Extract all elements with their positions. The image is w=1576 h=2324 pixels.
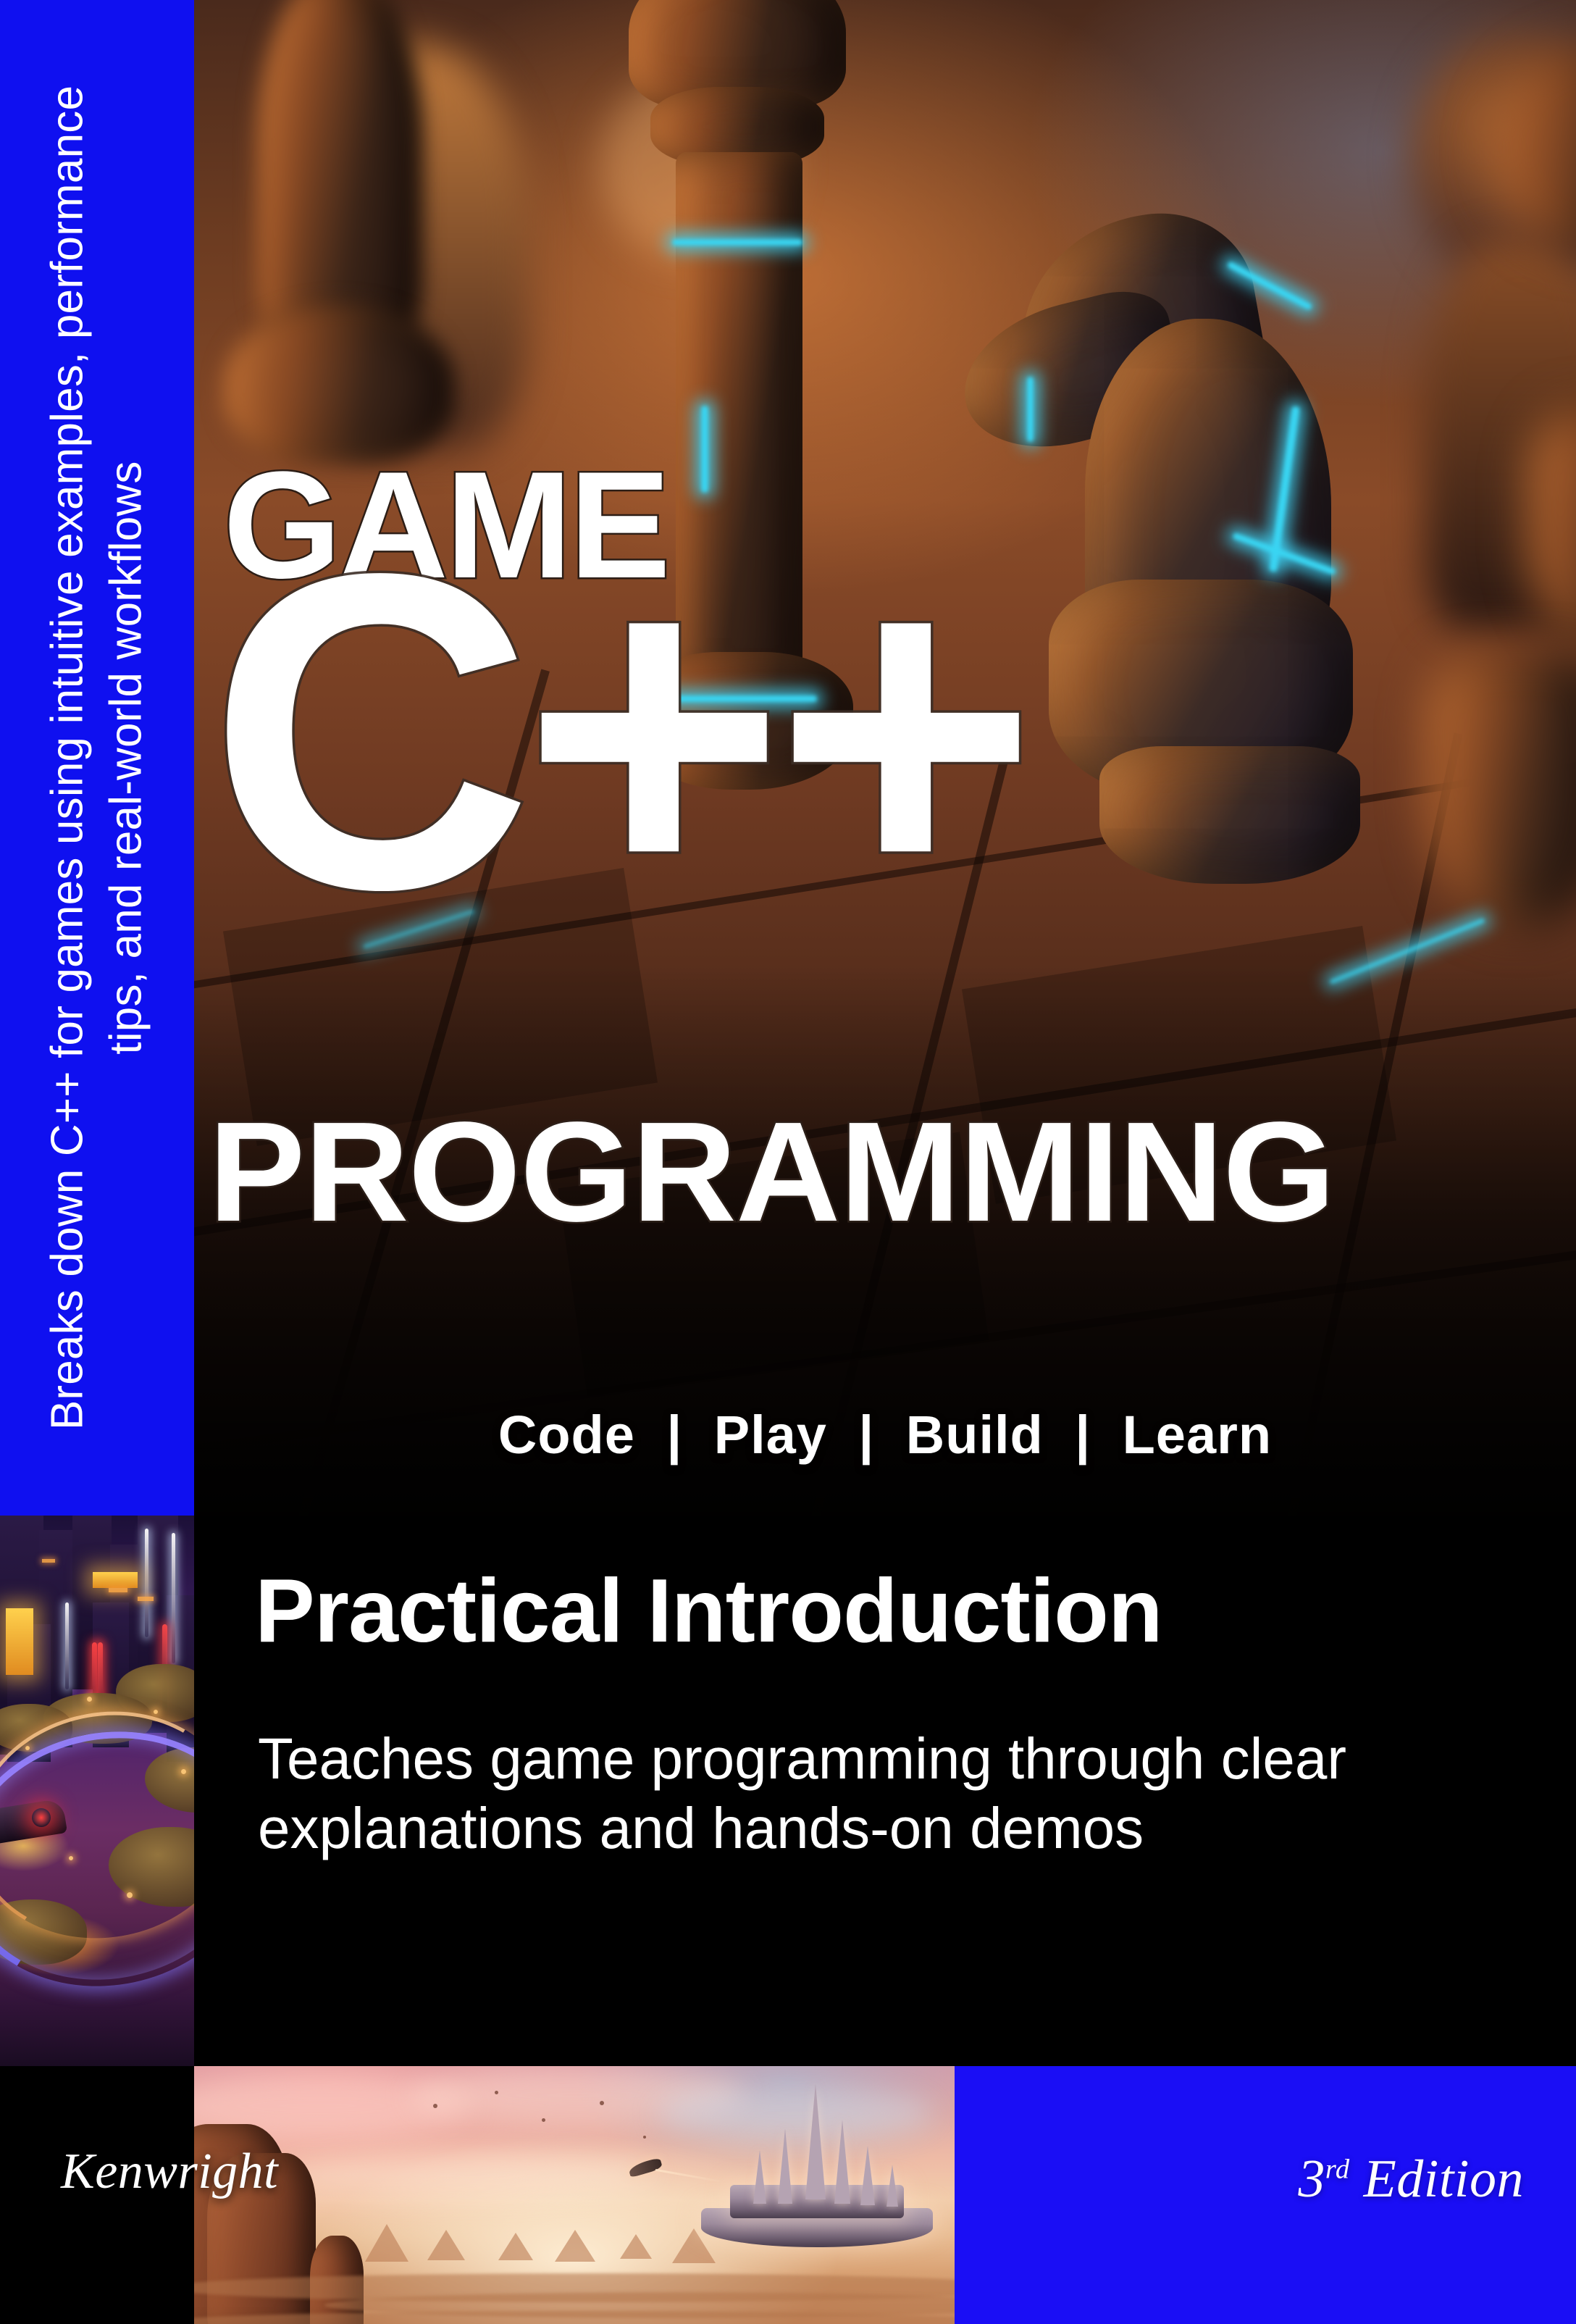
kicker-row: Code | Play | Build | Learn [194,1404,1576,1466]
kicker-learn: Learn [1123,1405,1273,1465]
kicker-sep-2: | [843,1405,891,1465]
kicker-code: Code [498,1405,635,1465]
cyberpunk-city-panel [0,1516,194,2066]
title-line-cpp: C++ [209,507,1027,956]
edition-word: Edition [1364,2149,1524,2209]
edition-label: 3rd Edition [1298,2149,1524,2210]
kicker-sep-1: | [650,1405,698,1465]
kicker-build: Build [906,1405,1044,1465]
kicker-sep-3: | [1059,1405,1107,1465]
book-cover: GAME C++ PROGRAMMING Code | Play | Build… [0,0,1576,2324]
edition-ordinal: rd [1325,2154,1350,2184]
subtitle-heading: Practical Introduction [255,1565,1515,1658]
alien-desert-panel [194,2066,955,2324]
spine-tagline: Breaks down C++ for games using intuitiv… [38,70,155,1446]
edition-number: 3 [1298,2149,1325,2209]
cover-title-block: GAME C++ PROGRAMMING Code | Play | Build… [194,0,1576,1516]
title-line-programming: PROGRAMMING [209,1101,1335,1243]
spine-blue-band: Breaks down C++ for games using intuitiv… [0,0,194,1516]
kicker-play: Play [714,1405,827,1465]
author-name: Kenwright [61,2143,278,2201]
description-text: Teaches game programming through clear e… [258,1724,1475,1863]
